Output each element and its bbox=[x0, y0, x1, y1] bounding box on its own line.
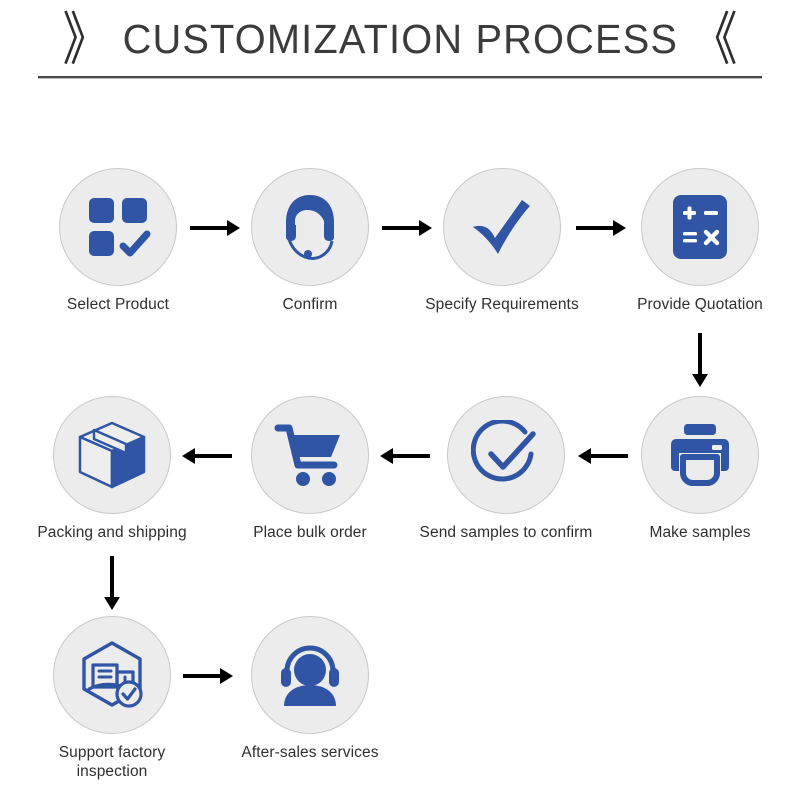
step-icon-circle bbox=[53, 396, 171, 514]
header: 》 CUSTOMIZATION PROCESS 《 bbox=[0, 0, 800, 90]
step-label: Provide Quotation bbox=[605, 295, 795, 314]
step-label: Make samples bbox=[620, 523, 780, 542]
step-icon-circle bbox=[447, 396, 565, 514]
step-icon-circle bbox=[251, 168, 369, 286]
step-label: After-sales services bbox=[230, 743, 390, 762]
arrow-r1-3 bbox=[576, 219, 626, 237]
customization-process-infographic: 》 CUSTOMIZATION PROCESS 《 Select Product bbox=[0, 0, 800, 800]
arrow-r3-1 bbox=[183, 667, 233, 685]
step-icon-circle bbox=[641, 396, 759, 514]
checkmark-icon bbox=[467, 192, 537, 262]
step-label: Specify Requirements bbox=[407, 295, 597, 314]
check-circle-icon bbox=[471, 420, 541, 490]
headset-agent-icon bbox=[274, 191, 346, 263]
arrow-left-down bbox=[103, 556, 121, 610]
chevron-double-right-icon: 》 bbox=[63, 10, 109, 68]
step-label: Send samples to confirm bbox=[411, 523, 601, 542]
step-send-samples-to-confirm[interactable]: Send samples to confirm bbox=[426, 396, 586, 542]
shopping-cart-icon bbox=[274, 421, 346, 489]
arrow-right-down bbox=[691, 333, 709, 387]
step-specify-requirements[interactable]: Specify Requirements bbox=[422, 168, 582, 314]
step-make-samples[interactable]: Make samples bbox=[620, 396, 780, 542]
step-select-product[interactable]: Select Product bbox=[38, 168, 198, 314]
step-icon-circle bbox=[443, 168, 561, 286]
title-text: CUSTOMIZATION PROCESS bbox=[122, 16, 678, 63]
grid-check-icon bbox=[85, 194, 151, 260]
step-after-sales-services[interactable]: After-sales services bbox=[230, 616, 390, 762]
page-title: 》 CUSTOMIZATION PROCESS 《 bbox=[0, 8, 800, 70]
header-divider bbox=[38, 76, 762, 79]
arrow-r1-1 bbox=[190, 219, 240, 237]
step-place-bulk-order[interactable]: Place bulk order bbox=[230, 396, 390, 542]
factory-inspection-shield-icon bbox=[76, 639, 148, 711]
chevron-double-left-icon: 《 bbox=[691, 10, 737, 68]
arrow-r2-1 bbox=[182, 447, 232, 465]
step-label: Confirm bbox=[230, 295, 390, 314]
step-label: Select Product bbox=[38, 295, 198, 314]
step-label: Support factory inspection bbox=[32, 743, 192, 782]
step-icon-circle bbox=[641, 168, 759, 286]
step-icon-circle bbox=[59, 168, 177, 286]
arrow-r1-2 bbox=[382, 219, 432, 237]
step-support-factory-inspection[interactable]: Support factory inspection bbox=[32, 616, 192, 782]
printer-icon bbox=[665, 423, 735, 487]
step-packing-and-shipping[interactable]: Packing and shipping bbox=[32, 396, 192, 542]
arrow-r2-2 bbox=[380, 447, 430, 465]
step-label: Place bulk order bbox=[230, 523, 390, 542]
calculator-icon bbox=[669, 193, 731, 261]
step-label: Packing and shipping bbox=[17, 523, 207, 542]
arrow-r2-3 bbox=[578, 447, 628, 465]
step-icon-circle bbox=[53, 616, 171, 734]
step-provide-quotation[interactable]: Provide Quotation bbox=[620, 168, 780, 314]
step-confirm[interactable]: Confirm bbox=[230, 168, 390, 314]
package-box-icon bbox=[76, 420, 148, 490]
headset-support-icon bbox=[275, 642, 345, 708]
step-icon-circle bbox=[251, 396, 369, 514]
step-icon-circle bbox=[251, 616, 369, 734]
